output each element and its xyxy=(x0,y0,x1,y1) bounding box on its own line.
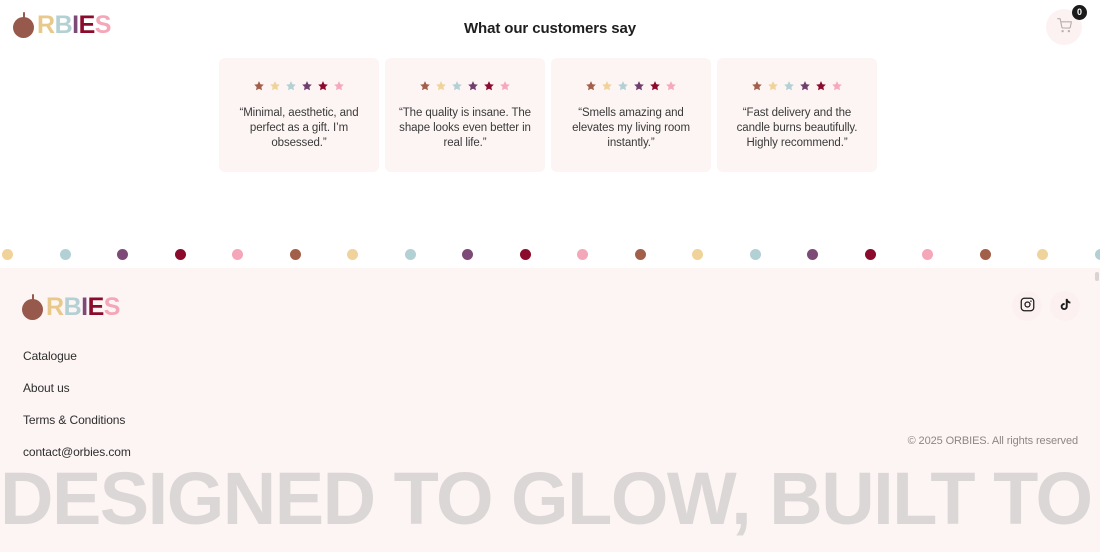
star-icon xyxy=(499,80,511,92)
instagram-link[interactable] xyxy=(1012,291,1042,321)
testimonial-card: “Minimal, aesthetic, and perfect as a gi… xyxy=(219,58,379,172)
divider-dot xyxy=(347,249,358,260)
star-icon xyxy=(333,80,345,92)
footer-tagline: DESIGNED TO GLOW, BUILT TO SOOTHE xyxy=(0,462,1100,536)
footer-link-catalogue[interactable]: Catalogue xyxy=(23,340,131,372)
dot-divider xyxy=(0,240,1100,268)
divider-dot xyxy=(290,249,301,260)
testimonial-quote: “Minimal, aesthetic, and perfect as a gi… xyxy=(233,106,365,152)
rating-stars xyxy=(233,80,365,92)
star-icon xyxy=(317,80,329,92)
divider-dot xyxy=(520,249,531,260)
testimonial-card: “The quality is insane. The shape looks … xyxy=(385,58,545,172)
star-icon xyxy=(617,80,629,92)
tiktok-icon xyxy=(1058,297,1073,315)
star-icon xyxy=(301,80,313,92)
star-icon xyxy=(269,80,281,92)
star-icon xyxy=(831,80,843,92)
social-links xyxy=(1012,291,1080,321)
divider-dot xyxy=(980,249,991,260)
testimonials-list: “Minimal, aesthetic, and perfect as a gi… xyxy=(219,58,882,172)
orb-logo-icon xyxy=(22,296,45,319)
logo-letters: RBIES xyxy=(46,295,120,320)
instagram-icon xyxy=(1020,297,1035,315)
divider-dot xyxy=(405,249,416,260)
star-icon xyxy=(799,80,811,92)
testimonial-card: “Fast delivery and the candle burns beau… xyxy=(717,58,877,172)
divider-dot xyxy=(117,249,128,260)
divider-dot xyxy=(175,249,186,260)
footer-link-about-us[interactable]: About us xyxy=(23,372,131,404)
logo-letter-s: S xyxy=(104,295,120,320)
tiktok-link[interactable] xyxy=(1050,291,1080,321)
divider-dot xyxy=(232,249,243,260)
testimonial-card: “Smells amazing and elevates my living r… xyxy=(551,58,711,172)
star-icon xyxy=(585,80,597,92)
star-icon xyxy=(751,80,763,92)
star-icon xyxy=(467,80,479,92)
scrollbar-thumb[interactable] xyxy=(1095,272,1099,281)
divider-dot xyxy=(807,249,818,260)
logo-letter-r: R xyxy=(46,295,64,320)
footer-logo[interactable]: RBIES xyxy=(22,295,120,320)
divider-dot xyxy=(635,249,646,260)
footer-nav: Catalogue About us Terms & Conditions co… xyxy=(23,340,131,468)
divider-dot xyxy=(750,249,761,260)
copyright-text: © 2025 ORBIES. All rights reserved xyxy=(908,435,1078,447)
star-icon xyxy=(783,80,795,92)
divider-dot xyxy=(1037,249,1048,260)
footer-link-terms-conditions[interactable]: Terms & Conditions xyxy=(23,404,131,436)
divider-dot xyxy=(2,249,13,260)
divider-dot xyxy=(60,249,71,260)
rating-stars xyxy=(731,80,863,92)
divider-dot xyxy=(1095,249,1100,260)
shopping-cart-icon xyxy=(1057,18,1072,36)
star-icon xyxy=(419,80,431,92)
logo-letter-e: E xyxy=(88,295,104,320)
logo-letter-b: B xyxy=(64,295,82,320)
page-title: What our customers say xyxy=(0,20,1100,37)
testimonial-quote: “The quality is insane. The shape looks … xyxy=(399,106,531,152)
star-icon xyxy=(435,80,447,92)
rating-stars xyxy=(565,80,697,92)
divider-dot xyxy=(865,249,876,260)
divider-dot xyxy=(462,249,473,260)
star-icon xyxy=(451,80,463,92)
star-icon xyxy=(633,80,645,92)
testimonial-quote: “Smells amazing and elevates my living r… xyxy=(565,106,697,152)
star-icon xyxy=(253,80,265,92)
divider-dot xyxy=(577,249,588,260)
star-icon xyxy=(649,80,661,92)
star-icon xyxy=(285,80,297,92)
star-icon xyxy=(767,80,779,92)
star-icon xyxy=(665,80,677,92)
testimonial-quote: “Fast delivery and the candle burns beau… xyxy=(731,106,863,152)
star-icon xyxy=(601,80,613,92)
divider-dot xyxy=(692,249,703,260)
star-icon xyxy=(483,80,495,92)
rating-stars xyxy=(399,80,531,92)
cart-count-badge: 0 xyxy=(1072,5,1087,20)
divider-dot xyxy=(922,249,933,260)
star-icon xyxy=(815,80,827,92)
site-header: RBIES What our customers say 0 xyxy=(0,0,1100,54)
